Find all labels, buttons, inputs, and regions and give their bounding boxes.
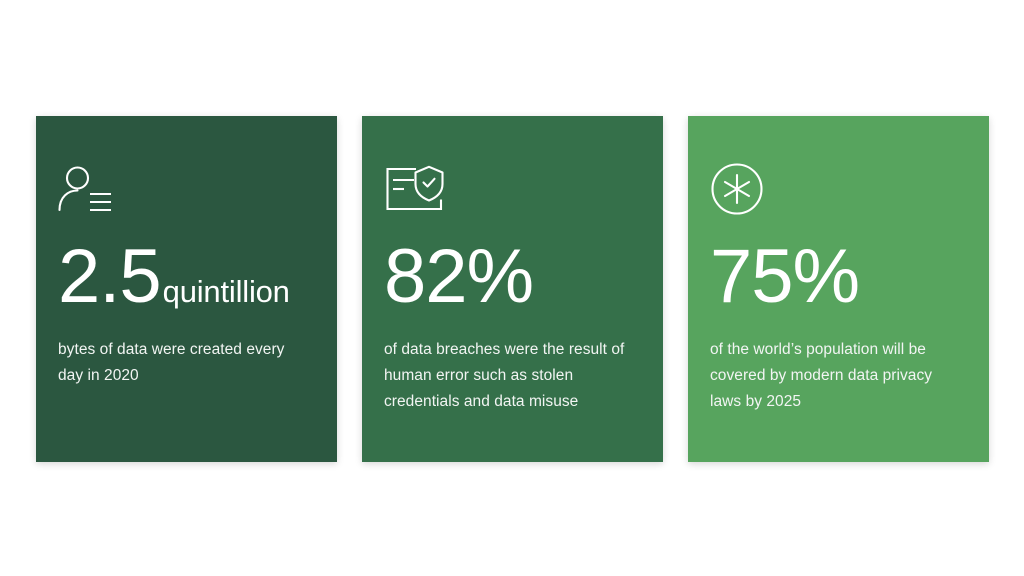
stat-headline: 82% — [384, 242, 629, 312]
stat-value: 82% — [384, 242, 533, 312]
stat-description: of data breaches were the result of huma… — [384, 337, 629, 415]
stat-description: bytes of data were created every day in … — [58, 337, 303, 389]
card-shield-check-icon — [384, 160, 629, 218]
stat-value: 75% — [710, 242, 859, 312]
stat-headline: 2.5 quintillion — [58, 242, 303, 312]
stat-card: 2.5 quintillion bytes of data were creat… — [36, 116, 337, 462]
person-lines-icon — [58, 160, 303, 218]
stat-card-content: 2.5 quintillion bytes of data were creat… — [58, 160, 303, 389]
stat-card: 82% of data breaches were the result of … — [362, 116, 663, 462]
stat-value: 2.5 — [58, 242, 161, 312]
stat-card-content: 82% of data breaches were the result of … — [384, 160, 629, 415]
stat-card-content: 75% of the world’s population will be co… — [710, 160, 955, 415]
stat-card: 75% of the world’s population will be co… — [688, 116, 989, 462]
stat-card-list: 2.5 quintillion bytes of data were creat… — [36, 116, 989, 462]
statistics-panel: 2.5 quintillion bytes of data were creat… — [0, 0, 1024, 576]
asterisk-circle-icon — [710, 160, 955, 218]
stat-description: of the world’s population will be covere… — [710, 337, 955, 415]
stat-headline: 75% — [710, 242, 955, 312]
stat-unit: quintillion — [163, 276, 290, 307]
